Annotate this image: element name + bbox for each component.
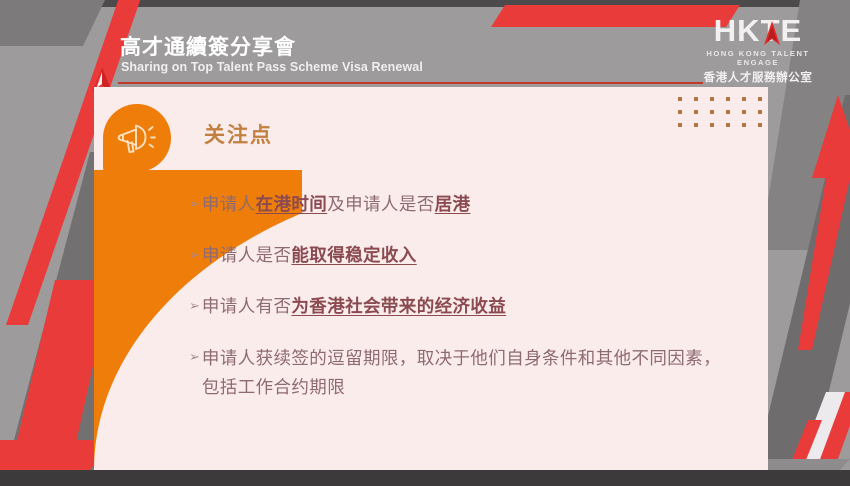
dot-grid-decoration	[678, 97, 768, 139]
bullet-arrow-icon: ➢	[189, 192, 200, 218]
decorative-dot	[726, 123, 730, 127]
bullet-item: ➢申请人是否能取得稳定收入	[189, 243, 734, 269]
bullet-arrow-icon: ➢	[189, 345, 200, 371]
bullet-text: 申请人在港时间及申请人是否居港	[202, 192, 471, 218]
bullet-plain: 及申请人是否	[327, 195, 434, 215]
bullet-plain: 申请人是否	[202, 246, 292, 266]
decorative-dot	[742, 110, 746, 114]
decorative-dot	[742, 123, 746, 127]
page-subtitle: Sharing on Top Talent Pass Scheme Visa R…	[121, 60, 423, 74]
header-divider	[118, 82, 703, 84]
card-title: 关注点	[204, 119, 273, 149]
decorative-dot	[710, 97, 714, 101]
bullet-plain: 申请人	[202, 195, 256, 215]
decorative-dot	[726, 110, 730, 114]
card-content: 关注点 ➢申请人在港时间及申请人是否居港➢申请人是否能取得稳定收入➢申请人有否为…	[94, 87, 768, 470]
bullet-emphasis: 居港	[435, 195, 471, 215]
bottom-dark-bar	[0, 470, 850, 486]
logo-english-name: HONG KONG TALENT ENGAGE	[684, 49, 832, 67]
bullet-text: 申请人是否能取得稳定收入	[202, 243, 417, 269]
logo-red-arrow-icon	[763, 21, 781, 47]
decorative-dot	[758, 110, 762, 114]
decorative-dot	[694, 110, 698, 114]
bullet-item: ➢申请人获续签的逗留期限，取决于他们自身条件和其他不同因素，包括工作合约期限	[189, 345, 734, 403]
bullet-arrow-icon: ➢	[189, 294, 200, 320]
decorative-dot	[710, 123, 714, 127]
logo-wordmark: HKTE	[684, 14, 832, 48]
decorative-dot	[726, 97, 730, 101]
decorative-dot	[694, 97, 698, 101]
logo-chinese-name: 香港人才服務辦公室	[684, 69, 832, 85]
hkte-logo: HKTE HONG KONG TALENT ENGAGE 香港人才服務辦公室	[684, 14, 832, 85]
bullet-item: ➢申请人有否为香港社会带来的经济收益	[189, 294, 734, 320]
decorative-dot	[678, 97, 682, 101]
bullet-plain: 申请人有否	[202, 297, 292, 317]
bullet-plain: 申请人获续签的逗留期限，取决于他们自身条件和其他不同因素，包括工作合约期限	[202, 349, 721, 398]
decorative-dot	[742, 97, 746, 101]
bullet-emphasis: 能取得稳定收入	[291, 246, 416, 266]
bullet-text: 申请人获续签的逗留期限，取决于他们自身条件和其他不同因素，包括工作合约期限	[202, 345, 734, 403]
logo-wordmark-row: HKTE	[684, 14, 832, 48]
decorative-dot	[678, 110, 682, 114]
bullet-emphasis: 在港时间	[256, 195, 328, 215]
bullet-text: 申请人有否为香港社会带来的经济收益	[202, 294, 506, 320]
bullet-arrow-icon: ➢	[189, 243, 200, 269]
decorative-dot	[694, 123, 698, 127]
slide-canvas: 高才通續簽分享會 Sharing on Top Talent Pass Sche…	[0, 0, 850, 486]
content-card: 关注点 ➢申请人在港时间及申请人是否居港➢申请人是否能取得稳定收入➢申请人有否为…	[94, 87, 768, 470]
megaphone-icon	[103, 104, 171, 172]
decorative-dot	[710, 110, 714, 114]
bullet-emphasis: 为香港社会带来的经济收益	[291, 297, 506, 317]
decorative-dot	[758, 97, 762, 101]
bullet-item: ➢申请人在港时间及申请人是否居港	[189, 192, 734, 218]
decorative-dot	[678, 123, 682, 127]
decorative-dot	[758, 123, 762, 127]
bullet-list: ➢申请人在港时间及申请人是否居港➢申请人是否能取得稳定收入➢申请人有否为香港社会…	[189, 192, 734, 403]
page-title: 高才通續簽分享會	[120, 31, 296, 61]
